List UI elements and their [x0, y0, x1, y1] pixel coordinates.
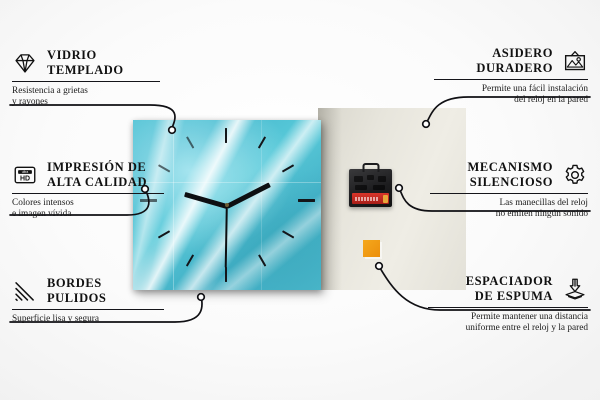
infographic-canvas: VIDRIO TEMPLADO Resistencia a grietas y … [0, 0, 600, 400]
feature-description: Las manecillas del reloj no emiten ningú… [430, 198, 588, 220]
feature-title: MECANISMO SILENCIOSO [467, 160, 553, 189]
connector-endpoint-bordes-pulidos [198, 294, 205, 301]
feature-description: Permite mantener una distancia uniforme … [428, 312, 588, 334]
connector-endpoint-vidrio-templado [169, 127, 176, 134]
feature-divider [12, 81, 160, 82]
feature-title: IMPRESIÓN DE ALTA CALIDAD [47, 160, 147, 189]
feature-vidrio-templado: VIDRIO TEMPLADO Resistencia a grietas y … [12, 48, 160, 108]
feature-bordes-pulidos: BORDES PULIDOS Superficie lisa y segura [12, 276, 164, 325]
connector-endpoint-mecanismo [396, 185, 403, 192]
gear-icon [562, 162, 588, 188]
feature-heading-row: ultra HD IMPRESIÓN DE ALTA CALIDAD [12, 160, 164, 189]
connector-endpoint-asidero [423, 121, 430, 128]
feature-description: Colores intensos e imagen vívida [12, 198, 164, 220]
feature-title: ASIDERO DURADERO [476, 46, 553, 75]
feature-espaciador-de-espuma: ESPACIADOR DE ESPUMA Permite mantener un… [428, 274, 588, 334]
feature-heading-row: VIDRIO TEMPLADO [12, 48, 160, 77]
feature-title: BORDES PULIDOS [47, 276, 106, 305]
feature-heading-row: ESPACIADOR DE ESPUMA [428, 274, 588, 303]
feature-divider [430, 193, 588, 194]
feature-divider [12, 309, 164, 310]
feature-mecanismo-silencioso: MECANISMO SILENCIOSO Las manecillas del … [430, 160, 588, 220]
feature-title: VIDRIO TEMPLADO [47, 48, 124, 77]
feature-description: Superficie lisa y segura [12, 314, 164, 325]
press-layers-icon [562, 276, 588, 302]
feature-heading-row: MECANISMO SILENCIOSO [430, 160, 588, 189]
feature-title: ESPACIADOR DE ESPUMA [466, 274, 553, 303]
diamond-icon [12, 50, 38, 76]
feature-description: Resistencia a grietas y rayones [12, 86, 160, 108]
svg-text:HD: HD [20, 175, 30, 182]
feature-impresion-alta-calidad: ultra HD IMPRESIÓN DE ALTA CALIDAD Color… [12, 160, 164, 220]
feature-asidero-duradero: ASIDERO DURADERO Permite una fácil insta… [434, 46, 588, 106]
feature-description: Permite una fácil instalación del reloj … [434, 84, 588, 106]
svg-text:ultra: ultra [22, 170, 29, 174]
feature-heading-row: BORDES PULIDOS [12, 276, 164, 305]
feature-divider [12, 193, 164, 194]
ultra-hd-badge-icon: ultra HD [12, 162, 38, 188]
feature-divider [434, 79, 588, 80]
feature-divider [428, 307, 588, 308]
polished-edge-icon [12, 278, 38, 304]
connector-endpoint-espaciador [376, 263, 383, 270]
feature-heading-row: ASIDERO DURADERO [434, 46, 588, 75]
picture-hanger-icon [562, 48, 588, 74]
